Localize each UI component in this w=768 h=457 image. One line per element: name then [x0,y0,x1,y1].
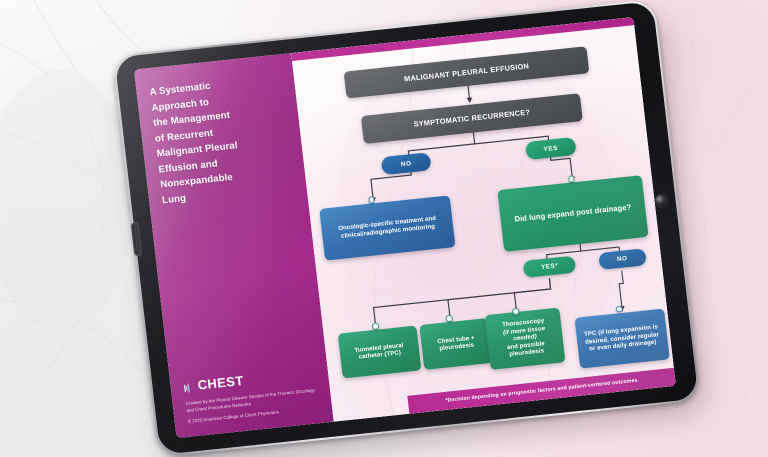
connector-dot-thoracoscopy [512,308,519,315]
sidebar-title: A Systematic Approach to the Management … [149,71,297,208]
connector-dot-tpc [372,323,379,330]
chest-logo-wordmark: CHEST [197,373,245,393]
chest-logo-icon [183,380,195,392]
sidebar-footer: CHEST Created by the Pleural Disease Sec… [183,365,322,426]
tablet-screen: A Systematic Approach to the Management … [134,17,676,438]
node-chest-tube-pleurodesis[interactable]: Chest tube + pleurodesis [420,318,494,370]
tablet-device: A Systematic Approach to the Management … [112,0,700,457]
connector-dot-oncologic [368,196,375,203]
node-tunneled-pleural-catheter[interactable]: Tunneled pleural catheter (TPC) [338,326,422,379]
flowchart-canvas: MALIGNANT PLEURAL EFFUSION SYMPTOMATIC R… [292,25,674,404]
screenshot-stage: A Systematic Approach to the Management … [0,0,768,457]
node-tpc-lung-expansion[interactable]: TPC (if lung expansion is desired, consi… [575,308,670,369]
connector-dot-chest-tube [446,315,453,322]
flowchart-panel: MALIGNANT PLEURAL EFFUSION SYMPTOMATIC R… [291,17,676,421]
node-thoracoscopy[interactable]: Thoracoscopy (if more tissue needed) and… [484,307,566,370]
